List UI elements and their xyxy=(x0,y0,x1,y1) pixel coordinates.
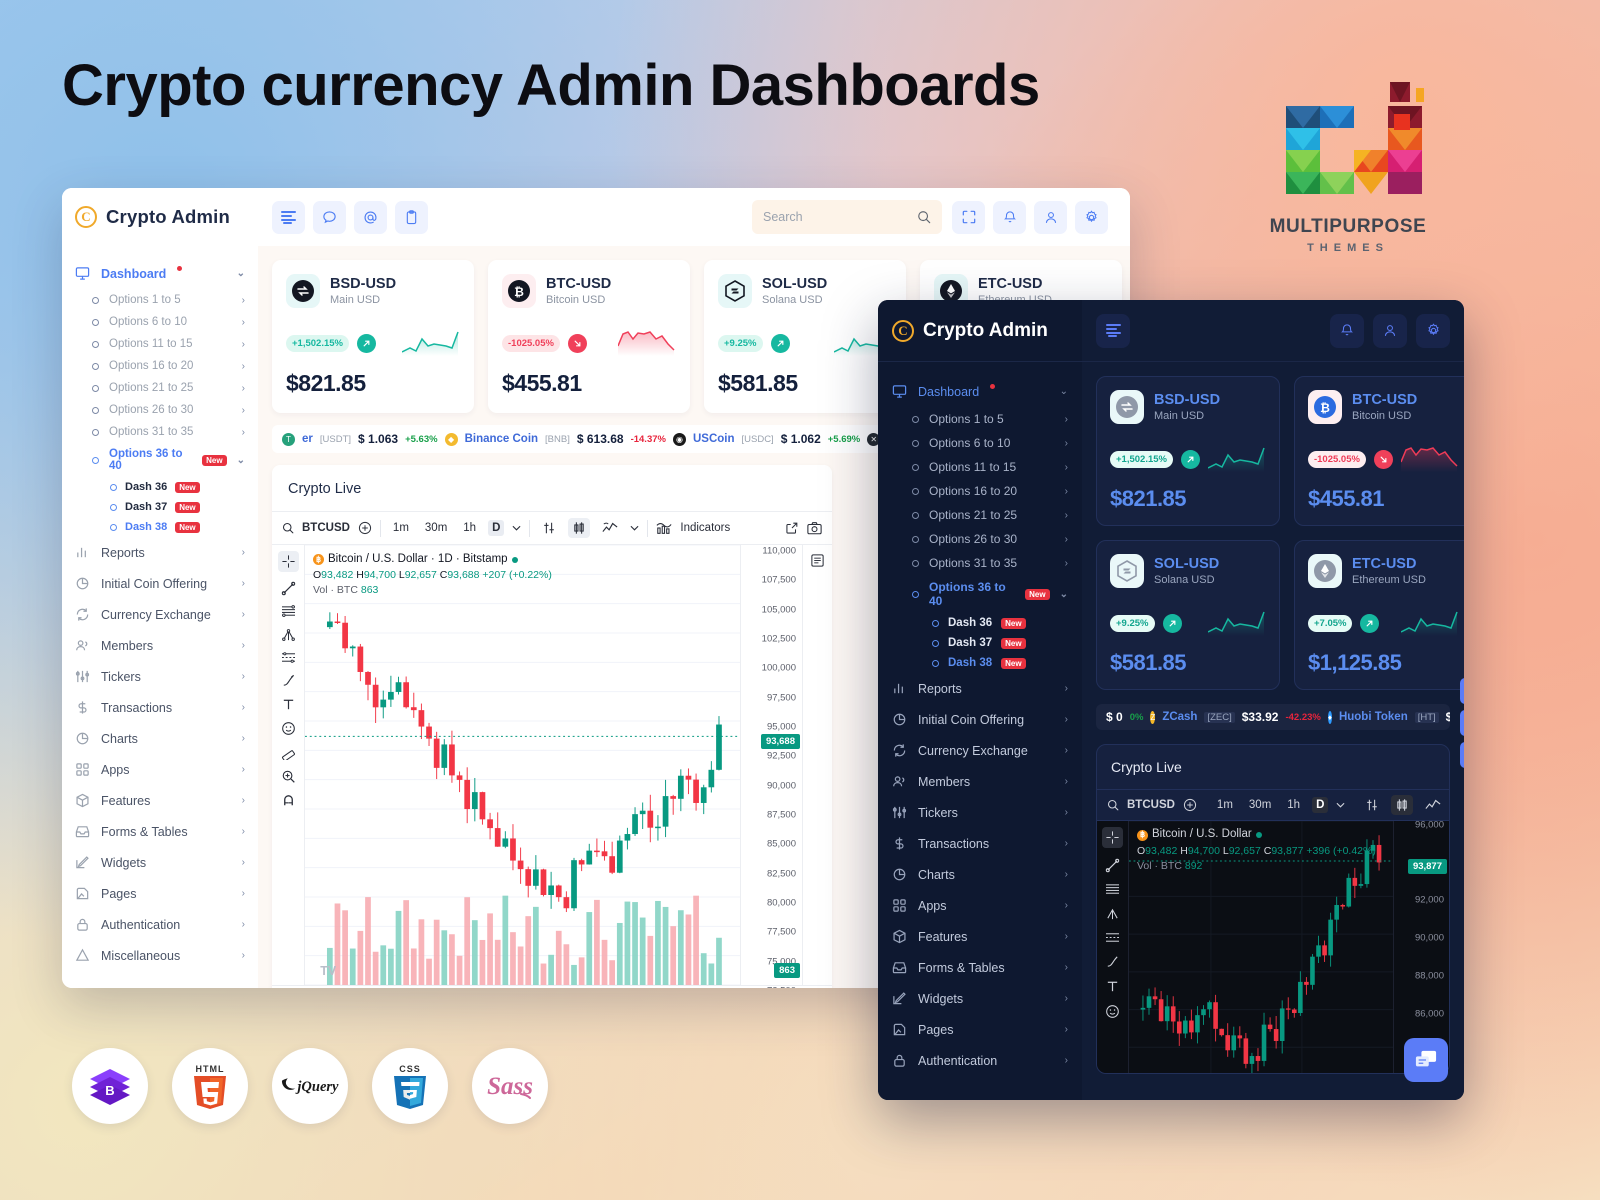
crypto-card[interactable]: SOL-USD Solana USD +9.25% $581.85 xyxy=(704,260,906,413)
crypto-card[interactable]: ETC-USD Ethereum USD +7.05% $1,125.85 xyxy=(1294,540,1464,690)
crypto-logo-icon: C xyxy=(892,320,914,342)
coin-icon: T xyxy=(282,433,295,446)
ohlc-open: 93,482 xyxy=(1145,845,1177,857)
y-tick: 92,000 xyxy=(1415,895,1444,906)
search-icon[interactable] xyxy=(1107,799,1119,811)
sidebar-dash-label: Dash 37 xyxy=(948,637,992,649)
new-badge: New xyxy=(175,522,199,533)
volume-badge: 863 xyxy=(774,963,800,978)
y-tick: 88,000 xyxy=(1415,970,1444,981)
sidebar-item-miscellaneous[interactable]: Miscellaneous › xyxy=(62,940,258,971)
sidebar-item-label: Currency Exchange xyxy=(918,744,1028,758)
brush-icon[interactable] xyxy=(1105,954,1120,969)
ohlc-change: +396 (+0.42%) xyxy=(1306,845,1375,857)
misc-icon xyxy=(75,948,90,963)
card-symbol: BTC-USD xyxy=(1352,392,1417,409)
sidebar-dash-0[interactable]: Dash 36 New xyxy=(878,613,1082,633)
gear-icon[interactable] xyxy=(1075,201,1108,234)
publish-icon[interactable] xyxy=(785,521,799,535)
sidebar-dash-1[interactable]: Dash 37 New xyxy=(62,497,258,517)
crosshair-icon[interactable] xyxy=(1102,827,1123,848)
chevron-right-icon[interactable]: › xyxy=(242,295,245,306)
bullet-icon xyxy=(912,591,919,598)
chevron-right-icon[interactable]: › xyxy=(242,919,245,930)
sidebar-item-transactions[interactable]: Transactions › xyxy=(878,828,1082,859)
multipurpose-logo: MULTIPURPOSE THEMES xyxy=(1268,78,1428,254)
brush-icon[interactable] xyxy=(281,673,296,688)
menu-icon[interactable] xyxy=(1096,314,1130,348)
indicators-icon[interactable] xyxy=(656,521,672,535)
chevron-right-icon[interactable]: › xyxy=(1065,414,1068,425)
chevron-right-icon[interactable]: ⌄ xyxy=(1060,589,1068,600)
sidebar-dash-0[interactable]: Dash 36 New xyxy=(62,477,258,497)
trendline-icon[interactable] xyxy=(281,581,296,596)
sidebar-option-label: Options 36 to 40 xyxy=(109,448,192,472)
pie-chart-icon xyxy=(892,712,907,727)
bullet-icon xyxy=(92,297,99,304)
sidebar-item-widgets[interactable]: Widgets › xyxy=(878,983,1082,1014)
bullet-icon xyxy=(912,512,919,519)
chevron-right-icon[interactable]: › xyxy=(1065,931,1068,942)
sidebar-item-dashboard[interactable]: Dashboard ⌄ xyxy=(62,258,258,289)
light-brand[interactable]: C Crypto Admin xyxy=(62,188,258,246)
sidebar-option-6[interactable]: Options 26 to 30 › xyxy=(878,527,1082,551)
chevron-right-icon[interactable]: › xyxy=(1065,683,1068,694)
sidebar-item-tickers[interactable]: Tickers › xyxy=(878,797,1082,828)
new-badge: New xyxy=(1001,638,1025,649)
measure-icon[interactable] xyxy=(281,745,296,760)
sidebar-item-features[interactable]: Features › xyxy=(62,785,258,816)
fib-icon[interactable] xyxy=(1105,883,1120,896)
sidebar-option-2[interactable]: Options 6 to 10 › xyxy=(878,431,1082,455)
new-badge: New xyxy=(1001,618,1025,629)
chevron-right-icon[interactable]: › xyxy=(242,857,245,868)
chevron-right-icon[interactable]: › xyxy=(242,671,245,682)
tv-time-axis[interactable]: FebMarAprMay xyxy=(272,985,832,988)
user-icon[interactable] xyxy=(1373,314,1407,348)
tv-candlestick-chart[interactable]: ฿ Bitcoin / U.S. Dollar · 1D · Bitstamp … xyxy=(305,545,740,985)
sidebar-item-initial-coin-offering[interactable]: Initial Coin Offering › xyxy=(878,704,1082,735)
ticker-name[interactable]: USCoin xyxy=(693,433,735,445)
trend-arrow-icon xyxy=(1163,614,1182,633)
chevron-right-icon[interactable]: › xyxy=(1065,1024,1068,1035)
chevron-right-icon[interactable]: › xyxy=(1065,807,1068,818)
crypto-card[interactable]: SOL-USD Solana USD +9.25% $581.85 xyxy=(1096,540,1280,690)
sidebar-item-authentication[interactable]: Authentication › xyxy=(878,1045,1082,1076)
sidebar-dash-label: Dash 38 xyxy=(948,657,992,669)
sidebar-option-1[interactable]: Options 1 to 5 › xyxy=(62,289,258,311)
crypto-logo-icon: C xyxy=(75,206,97,228)
ticker-symbol: [BNB] xyxy=(545,434,570,445)
ticker-name[interactable]: Huobi Token xyxy=(1339,711,1408,723)
dark-price-axis[interactable]: 96,00092,00090,00088,00086,00084,00082,0… xyxy=(1393,821,1449,1074)
new-badge: New xyxy=(175,502,199,513)
sidebar-item-currency-exchange[interactable]: Currency Exchange › xyxy=(62,599,258,630)
compare-icon[interactable] xyxy=(538,518,560,538)
card-price: $821.85 xyxy=(1110,486,1266,512)
sidebar-item-currency-exchange[interactable]: Currency Exchange › xyxy=(878,735,1082,766)
candlestick-icon[interactable] xyxy=(568,518,590,538)
camera-rail-icon[interactable] xyxy=(1460,678,1464,704)
ticker-price: $ 613.68 xyxy=(577,432,624,446)
tv-right-toolbar xyxy=(802,545,832,985)
bullet-icon xyxy=(912,416,919,423)
sidebar-option-5[interactable]: Options 21 to 25 › xyxy=(62,377,258,399)
indicators-label[interactable]: Indicators xyxy=(680,522,730,534)
sparkline-chart xyxy=(618,330,676,356)
dark-dashboard-window: C Crypto Admin Dashboard ⌄ Options 1 to … xyxy=(878,300,1464,1100)
search-icon[interactable] xyxy=(917,210,931,224)
clipboard-icon[interactable] xyxy=(395,201,428,234)
tf-30m[interactable]: 30m xyxy=(421,520,451,536)
sidebar-item-label: Authentication xyxy=(101,918,180,932)
chevron-right-icon[interactable]: › xyxy=(242,640,245,651)
y-tick: 96,000 xyxy=(1415,820,1444,831)
chevron-right-icon[interactable]: › xyxy=(242,795,245,806)
chevron-right-icon[interactable]: › xyxy=(242,361,245,372)
bullet-icon xyxy=(932,620,939,627)
sidebar-dash-label: Dash 36 xyxy=(125,481,167,493)
dark-candlestick-chart[interactable]: ฿ Bitcoin / U.S. Dollar O93,482 H94,700 … xyxy=(1129,821,1393,1074)
chevron-right-icon[interactable]: › xyxy=(242,702,245,713)
chevron-right-icon[interactable]: › xyxy=(242,888,245,899)
pie-chart-icon xyxy=(75,576,90,591)
menu-icon[interactable] xyxy=(272,201,305,234)
volume-label: Vol · BTC xyxy=(1137,860,1182,872)
sidebar-option-label: Options 6 to 10 xyxy=(109,316,187,328)
card-symbol: ETC-USD xyxy=(978,276,1052,293)
sidebar-option-2[interactable]: Options 6 to 10 › xyxy=(62,311,258,333)
sidebar-dash-1[interactable]: Dash 37 New xyxy=(878,633,1082,653)
tv-symbol[interactable]: BTCUSD xyxy=(302,522,350,534)
card-symbol: BSD-USD xyxy=(330,276,396,293)
dark-main-content: BSD-USD Main USD +1,502.15% $821.85 ₿ BT… xyxy=(1082,300,1464,1100)
chevron-right-icon[interactable]: › xyxy=(1065,900,1068,911)
chevron-right-icon[interactable]: › xyxy=(242,383,245,394)
bitcoin-icon: ฿ xyxy=(1137,830,1148,841)
chevron-right-icon[interactable]: › xyxy=(1065,714,1068,725)
coin-icon: Z xyxy=(1150,711,1155,724)
card-price: $455.81 xyxy=(502,370,676,397)
tf-1m[interactable]: 1m xyxy=(1213,797,1237,813)
status-dot xyxy=(512,557,518,563)
sidebar-dash-label: Dash 36 xyxy=(948,617,992,629)
sidebar-dash-2[interactable]: Dash 38 New xyxy=(62,517,258,537)
sidebar-dash-label: Dash 37 xyxy=(125,501,167,513)
current-price-badge: 93,877 xyxy=(1408,859,1447,874)
tf-d[interactable]: D xyxy=(1312,797,1328,813)
emoji-icon[interactable] xyxy=(1105,1004,1120,1019)
sidebar-item-forms-tables[interactable]: Forms & Tables › xyxy=(62,816,258,847)
sidebar-item-dashboard[interactable]: Dashboard ⌄ xyxy=(878,376,1082,407)
chevron-right-icon[interactable]: › xyxy=(242,578,245,589)
chat-icon[interactable] xyxy=(313,201,346,234)
sidebar-item-features[interactable]: Features › xyxy=(878,921,1082,952)
y-tick: 77,500 xyxy=(767,927,796,938)
sidebar-item-label: Charts xyxy=(101,732,138,746)
chevron-right-icon[interactable]: › xyxy=(242,547,245,558)
sidebar-option-label: Options 11 to 15 xyxy=(109,338,193,350)
sol-coin-icon xyxy=(718,274,752,308)
ticker-change: 0% xyxy=(1130,712,1144,723)
chevron-down-icon[interactable] xyxy=(630,525,639,531)
sidebar-item-pages[interactable]: Pages › xyxy=(878,1014,1082,1045)
sidebar-option-6[interactable]: Options 26 to 30 › xyxy=(62,399,258,421)
sidebar-option-5[interactable]: Options 21 to 25 › xyxy=(878,503,1082,527)
y-tick: 82,500 xyxy=(767,868,796,879)
gear-icon[interactable] xyxy=(1416,314,1450,348)
tv-legend-title: Bitcoin / U.S. Dollar · 1D · Bitstamp xyxy=(328,551,508,568)
tf-1h[interactable]: 1h xyxy=(459,520,480,536)
ticker-name[interactable]: Binance Coin xyxy=(465,433,538,445)
magnet-icon[interactable] xyxy=(281,793,296,808)
trend-arrow-icon xyxy=(1181,450,1200,469)
chevron-right-icon[interactable]: › xyxy=(242,826,245,837)
ticker-symbol: [USDT] xyxy=(320,434,351,445)
sidebar-item-apps[interactable]: Apps › xyxy=(878,890,1082,921)
ohlc-close: 93,688 xyxy=(447,569,479,581)
light-sidebar-menu: Dashboard ⌄ Options 1 to 5 › Options 6 t… xyxy=(62,246,258,971)
sidebar-item-label: Dashboard xyxy=(918,385,979,399)
sidebar-option-3[interactable]: Options 11 to 15 › xyxy=(62,333,258,355)
bullet-icon xyxy=(92,457,99,464)
chevron-right-icon[interactable]: › xyxy=(1065,838,1068,849)
sidebar-option-7[interactable]: Options 31 to 35 › xyxy=(878,551,1082,575)
chevron-right-icon[interactable]: › xyxy=(1065,962,1068,973)
add-symbol-icon[interactable] xyxy=(358,521,372,535)
chevron-right-icon[interactable]: › xyxy=(1065,745,1068,756)
ticker-change: -14.37% xyxy=(631,434,666,445)
y-tick: 87,500 xyxy=(767,810,796,821)
compare-icon[interactable] xyxy=(1361,795,1383,815)
card-name: Main USD xyxy=(330,294,396,306)
search-icon[interactable] xyxy=(282,522,294,534)
bell-icon[interactable] xyxy=(1330,314,1364,348)
y-tick: 110,000 xyxy=(762,546,796,557)
chevron-right-icon[interactable]: › xyxy=(242,427,245,438)
trend-arrow-icon xyxy=(771,334,790,353)
grid-icon xyxy=(75,762,90,777)
y-tick: 105,000 xyxy=(762,604,796,615)
crypto-card[interactable]: ₿ BTC-USD Bitcoin USD -1025.05% $455.81 xyxy=(488,260,690,413)
card-name: Bitcoin USD xyxy=(546,294,611,306)
sidebar-option-1[interactable]: Options 1 to 5 › xyxy=(878,407,1082,431)
pitchfork-icon[interactable] xyxy=(1105,906,1120,921)
sidebar-option-label: Options 6 to 10 xyxy=(929,436,1010,450)
sidebar-option-label: Options 26 to 30 xyxy=(109,404,193,416)
crypto-card[interactable]: ₿ BTC-USD Bitcoin USD -1025.05% $455.81 xyxy=(1294,376,1464,526)
text-icon[interactable] xyxy=(281,697,296,712)
sidebar-item-label: Pages xyxy=(101,887,136,901)
sidebar-item-tickers[interactable]: Tickers › xyxy=(62,661,258,692)
dollar-icon xyxy=(75,700,90,715)
monitor-icon xyxy=(892,384,907,399)
sidebar-item-label: Members xyxy=(101,639,153,653)
candlestick-icon[interactable] xyxy=(1391,795,1413,815)
card-symbol: BTC-USD xyxy=(546,276,611,293)
chevron-down-icon[interactable] xyxy=(512,525,521,531)
chevron-right-icon[interactable]: › xyxy=(242,405,245,416)
coin-icon: ◉ xyxy=(673,433,686,446)
sidebar-item-label: Transactions xyxy=(101,701,172,715)
exchange-icon xyxy=(892,743,907,758)
sidebar-item-members[interactable]: Members › xyxy=(62,630,258,661)
chevron-down-icon[interactable]: ⌄ xyxy=(237,268,245,279)
sidebar-item-transactions[interactable]: Transactions › xyxy=(62,692,258,723)
crypto-card[interactable]: BSD-USD Main USD +1,502.15% $821.85 xyxy=(272,260,474,413)
chevron-right-icon[interactable]: › xyxy=(242,733,245,744)
sidebar-item-label: Reports xyxy=(918,682,962,696)
ticker-change: -42.23% xyxy=(1285,712,1320,723)
sidebar-item-initial-coin-offering[interactable]: Initial Coin Offering › xyxy=(62,568,258,599)
tech-badges-row: B HTML jQuery CSS Sass xyxy=(72,1048,548,1124)
image-rail-icon[interactable] xyxy=(1460,710,1464,736)
search-input[interactable]: Search xyxy=(752,200,942,234)
chevron-down-icon[interactable]: ⌄ xyxy=(1060,386,1068,397)
sidebar-item-apps[interactable]: Apps › xyxy=(62,754,258,785)
chevron-right-icon[interactable]: › xyxy=(242,950,245,961)
bullet-icon xyxy=(92,341,99,348)
chevron-right-icon[interactable]: › xyxy=(1065,1055,1068,1066)
dark-topbar xyxy=(1082,300,1464,362)
add-symbol-icon[interactable] xyxy=(1183,798,1197,812)
card-change-badge: +1,502.15% xyxy=(1110,451,1173,468)
sidebar-item-label: Features xyxy=(101,794,150,808)
tv-symbol[interactable]: BTCUSD xyxy=(1127,799,1175,811)
y-tick: 85,000 xyxy=(767,839,796,850)
ohlc-open: 93,482 xyxy=(321,569,353,581)
crypto-live-title: Crypto Live xyxy=(272,465,832,511)
sidebar-item-label: Tickers xyxy=(918,806,958,820)
sidebar-item-reports[interactable]: Reports › xyxy=(878,673,1082,704)
sidebar-option-8[interactable]: Options 36 to 40 New ⌄ xyxy=(878,575,1082,613)
chevron-right-icon[interactable]: › xyxy=(1065,776,1068,787)
sidebar-item-members[interactable]: Members › xyxy=(878,766,1082,797)
crypto-card[interactable]: BSD-USD Main USD +1,502.15% $821.85 xyxy=(1096,376,1280,526)
fullscreen-icon[interactable] xyxy=(952,201,985,234)
dark-brand[interactable]: C Crypto Admin xyxy=(878,300,1082,362)
chevron-right-icon[interactable]: › xyxy=(1065,462,1068,473)
chevron-right-icon[interactable]: › xyxy=(242,317,245,328)
emoji-icon[interactable] xyxy=(281,721,296,736)
sidebar-item-charts[interactable]: Charts › xyxy=(62,723,258,754)
sidebar-option-3[interactable]: Options 11 to 15 › xyxy=(878,455,1082,479)
logo-sub: THEMES xyxy=(1268,242,1428,254)
sidebar-item-label: Initial Coin Offering xyxy=(918,713,1024,727)
bullet-icon xyxy=(110,504,117,511)
tf-1m[interactable]: 1m xyxy=(389,520,413,536)
trendline-icon[interactable] xyxy=(1105,858,1120,873)
card-change-badge: +9.25% xyxy=(718,335,763,352)
chat-fab-button[interactable] xyxy=(1404,1038,1448,1074)
sidebar-option-4[interactable]: Options 16 to 20 › xyxy=(62,355,258,377)
multipurpose-mark-icon xyxy=(1272,78,1424,208)
ticker-name[interactable]: ZCash xyxy=(1162,711,1197,723)
pattern-icon[interactable] xyxy=(1105,931,1120,944)
svg-text:B: B xyxy=(105,1083,114,1098)
tf-1h[interactable]: 1h xyxy=(1283,797,1304,813)
card-name: Solana USD xyxy=(1154,574,1219,586)
chevron-right-icon[interactable]: › xyxy=(1065,486,1068,497)
chevron-right-icon[interactable]: › xyxy=(1065,993,1068,1004)
ticker-name[interactable]: er xyxy=(302,433,313,445)
dark-tv-ohlc: O93,482 H94,700 L92,657 C93,877 +396 (+0… xyxy=(1137,844,1376,860)
at-icon[interactable] xyxy=(354,201,387,234)
pie-chart-icon xyxy=(75,731,90,746)
line-chart-icon[interactable] xyxy=(1421,795,1445,815)
pattern-icon[interactable] xyxy=(281,651,296,664)
chevron-right-icon[interactable]: › xyxy=(1065,438,1068,449)
sidebar-item-charts[interactable]: Charts › xyxy=(878,859,1082,890)
exchange-icon xyxy=(75,607,90,622)
chevron-right-icon[interactable]: › xyxy=(1065,510,1068,521)
ohlc-high: 94,700 xyxy=(1188,845,1220,857)
dark-tv-toolbar: BTCUSD 1m 30m 1h D xyxy=(1097,789,1449,821)
sidebar-option-label: Options 11 to 15 xyxy=(929,460,1016,474)
sidebar-option-label: Options 26 to 30 xyxy=(929,532,1017,546)
ohlc-low: 92,657 xyxy=(405,569,437,581)
tv-price-axis[interactable]: 110,000107,500105,000102,500100,00097,50… xyxy=(740,545,802,985)
text-icon[interactable] xyxy=(1105,979,1120,994)
btc-coin-icon: ₿ xyxy=(1308,390,1342,424)
y-tick: 90,000 xyxy=(1415,933,1444,944)
sidebar-item-widgets[interactable]: Widgets › xyxy=(62,847,258,878)
chevron-right-icon[interactable]: › xyxy=(1065,869,1068,880)
bullet-icon xyxy=(932,660,939,667)
crosshair-icon[interactable] xyxy=(278,551,299,572)
camera-icon[interactable] xyxy=(807,521,822,535)
sidebar-item-label: Pages xyxy=(918,1023,953,1037)
inbox-icon xyxy=(892,960,907,975)
chevron-right-icon[interactable]: › xyxy=(242,609,245,620)
sidebar-item-label: Transactions xyxy=(918,837,989,851)
sidebar-option-7[interactable]: Options 31 to 35 › xyxy=(62,421,258,443)
dark-tv-legend: ฿ Bitcoin / U.S. Dollar O93,482 H94,700 … xyxy=(1137,826,1376,875)
notes-icon[interactable] xyxy=(810,553,825,568)
sidebar-item-pages[interactable]: Pages › xyxy=(62,878,258,909)
fib-icon[interactable] xyxy=(281,605,296,618)
chevron-right-icon[interactable]: ⌄ xyxy=(237,455,245,466)
bsd-coin-icon xyxy=(1110,390,1144,424)
card-symbol: SOL-USD xyxy=(762,276,827,293)
y-tick: 80,000 xyxy=(767,898,796,909)
sliders-icon xyxy=(75,669,90,684)
sidebar-dash-2[interactable]: Dash 38 New xyxy=(878,653,1082,673)
sidebar-item-reports[interactable]: Reports › xyxy=(62,537,258,568)
card-change-badge: +1,502.15% xyxy=(286,335,349,352)
sidebar-item-forms-tables[interactable]: Forms & Tables › xyxy=(878,952,1082,983)
chevron-down-icon[interactable] xyxy=(1336,802,1345,808)
tf-30m[interactable]: 30m xyxy=(1245,797,1275,813)
chevron-right-icon[interactable]: › xyxy=(242,339,245,350)
chat-rail-icon[interactable] xyxy=(1460,742,1464,768)
chevron-right-icon[interactable]: › xyxy=(1065,534,1068,545)
chevron-right-icon[interactable]: › xyxy=(242,764,245,775)
user-icon[interactable] xyxy=(1034,201,1067,234)
chevron-right-icon[interactable]: › xyxy=(1065,558,1068,569)
zoom-in-icon[interactable] xyxy=(281,769,296,784)
bell-icon[interactable] xyxy=(993,201,1026,234)
sidebar-option-8[interactable]: Options 36 to 40 New ⌄ xyxy=(62,443,258,477)
page-icon xyxy=(75,886,90,901)
sidebar-item-authentication[interactable]: Authentication › xyxy=(62,909,258,940)
ohlc-high: 94,700 xyxy=(364,569,396,581)
line-chart-icon[interactable] xyxy=(598,518,622,538)
pitchfork-icon[interactable] xyxy=(281,627,296,642)
tf-d[interactable]: D xyxy=(488,520,504,536)
sidebar-option-label: Options 31 to 35 xyxy=(109,426,193,438)
sidebar-option-4[interactable]: Options 16 to 20 › xyxy=(878,479,1082,503)
